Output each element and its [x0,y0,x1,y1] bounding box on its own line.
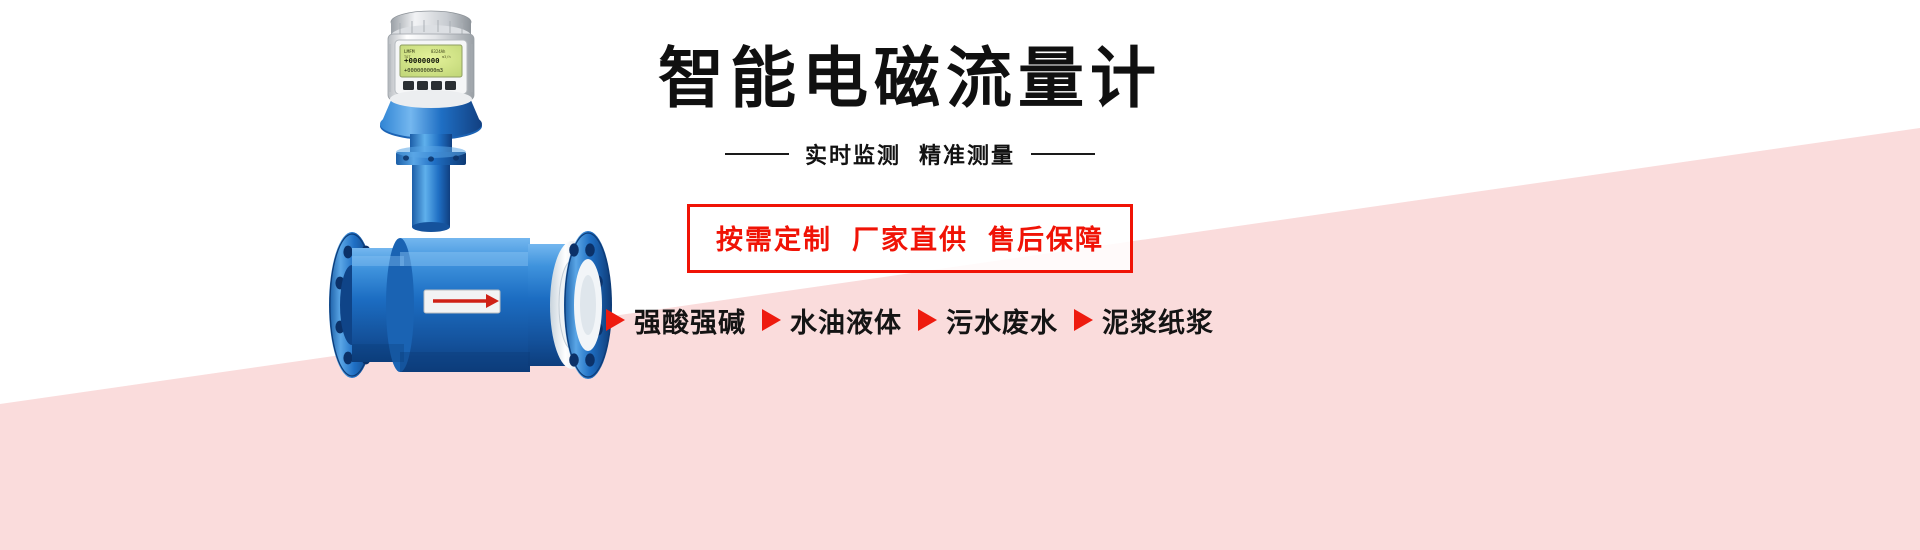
subtitle-right: 精准测量 [919,144,1015,169]
feature-box-text: 按需定制厂家直供售后保障 [716,225,1104,256]
tag-item-4: 泥浆纸浆 [1074,301,1214,340]
converter-head: LMFM 8324Ah +0000000 +000000000m3 TOT m3… [380,11,482,140]
feature-item-2: 厂家直供 [852,225,968,256]
lcd-model: 8324Ah [431,49,446,54]
arrow-right-icon [606,309,625,331]
meter-body [329,231,612,379]
arrow-right-icon [1074,309,1093,331]
subtitle-text: 实时监测精准测量 [805,138,1015,170]
tag-label-1: 强酸强碱 [634,301,746,340]
horizontal-rule-icon-left [725,153,789,155]
banner-content: 智能电磁流量计 实时监测精准测量 按需定制厂家直供售后保障 强酸强碱 水油液体 … [600,40,1220,340]
lcd-line-2: +000000000m3 [404,68,443,74]
lcd-label-left: TOT [404,55,411,59]
subtitle-row: 实时监测精准测量 [725,138,1095,170]
tag-item-1: 强酸强碱 [606,301,746,340]
horizontal-rule-icon-right [1031,153,1095,155]
subtitle-left: 实时监测 [805,144,901,169]
arrow-right-icon [762,309,781,331]
application-tag-row: 强酸强碱 水油液体 污水废水 泥浆纸浆 [606,301,1214,340]
feature-item-3: 售后保障 [988,225,1104,256]
tag-label-2: 水油液体 [790,301,902,340]
page-title: 智能电磁流量计 [658,40,1162,118]
product-banner: LMFM 8324Ah +0000000 +000000000m3 TOT m3… [0,0,1920,550]
flow-direction-label [424,290,500,313]
tag-label-3: 污水废水 [946,301,1058,340]
tag-item-3: 污水废水 [918,301,1058,340]
tag-label-4: 泥浆纸浆 [1102,301,1214,340]
tag-item-2: 水油液体 [762,301,902,340]
feature-item-1: 按需定制 [716,225,832,256]
arrow-right-icon [918,309,937,331]
feature-highlight-box: 按需定制厂家直供售后保障 [687,204,1133,273]
neck-assembly [396,134,466,232]
lcd-label-right: m3/h [442,55,451,59]
